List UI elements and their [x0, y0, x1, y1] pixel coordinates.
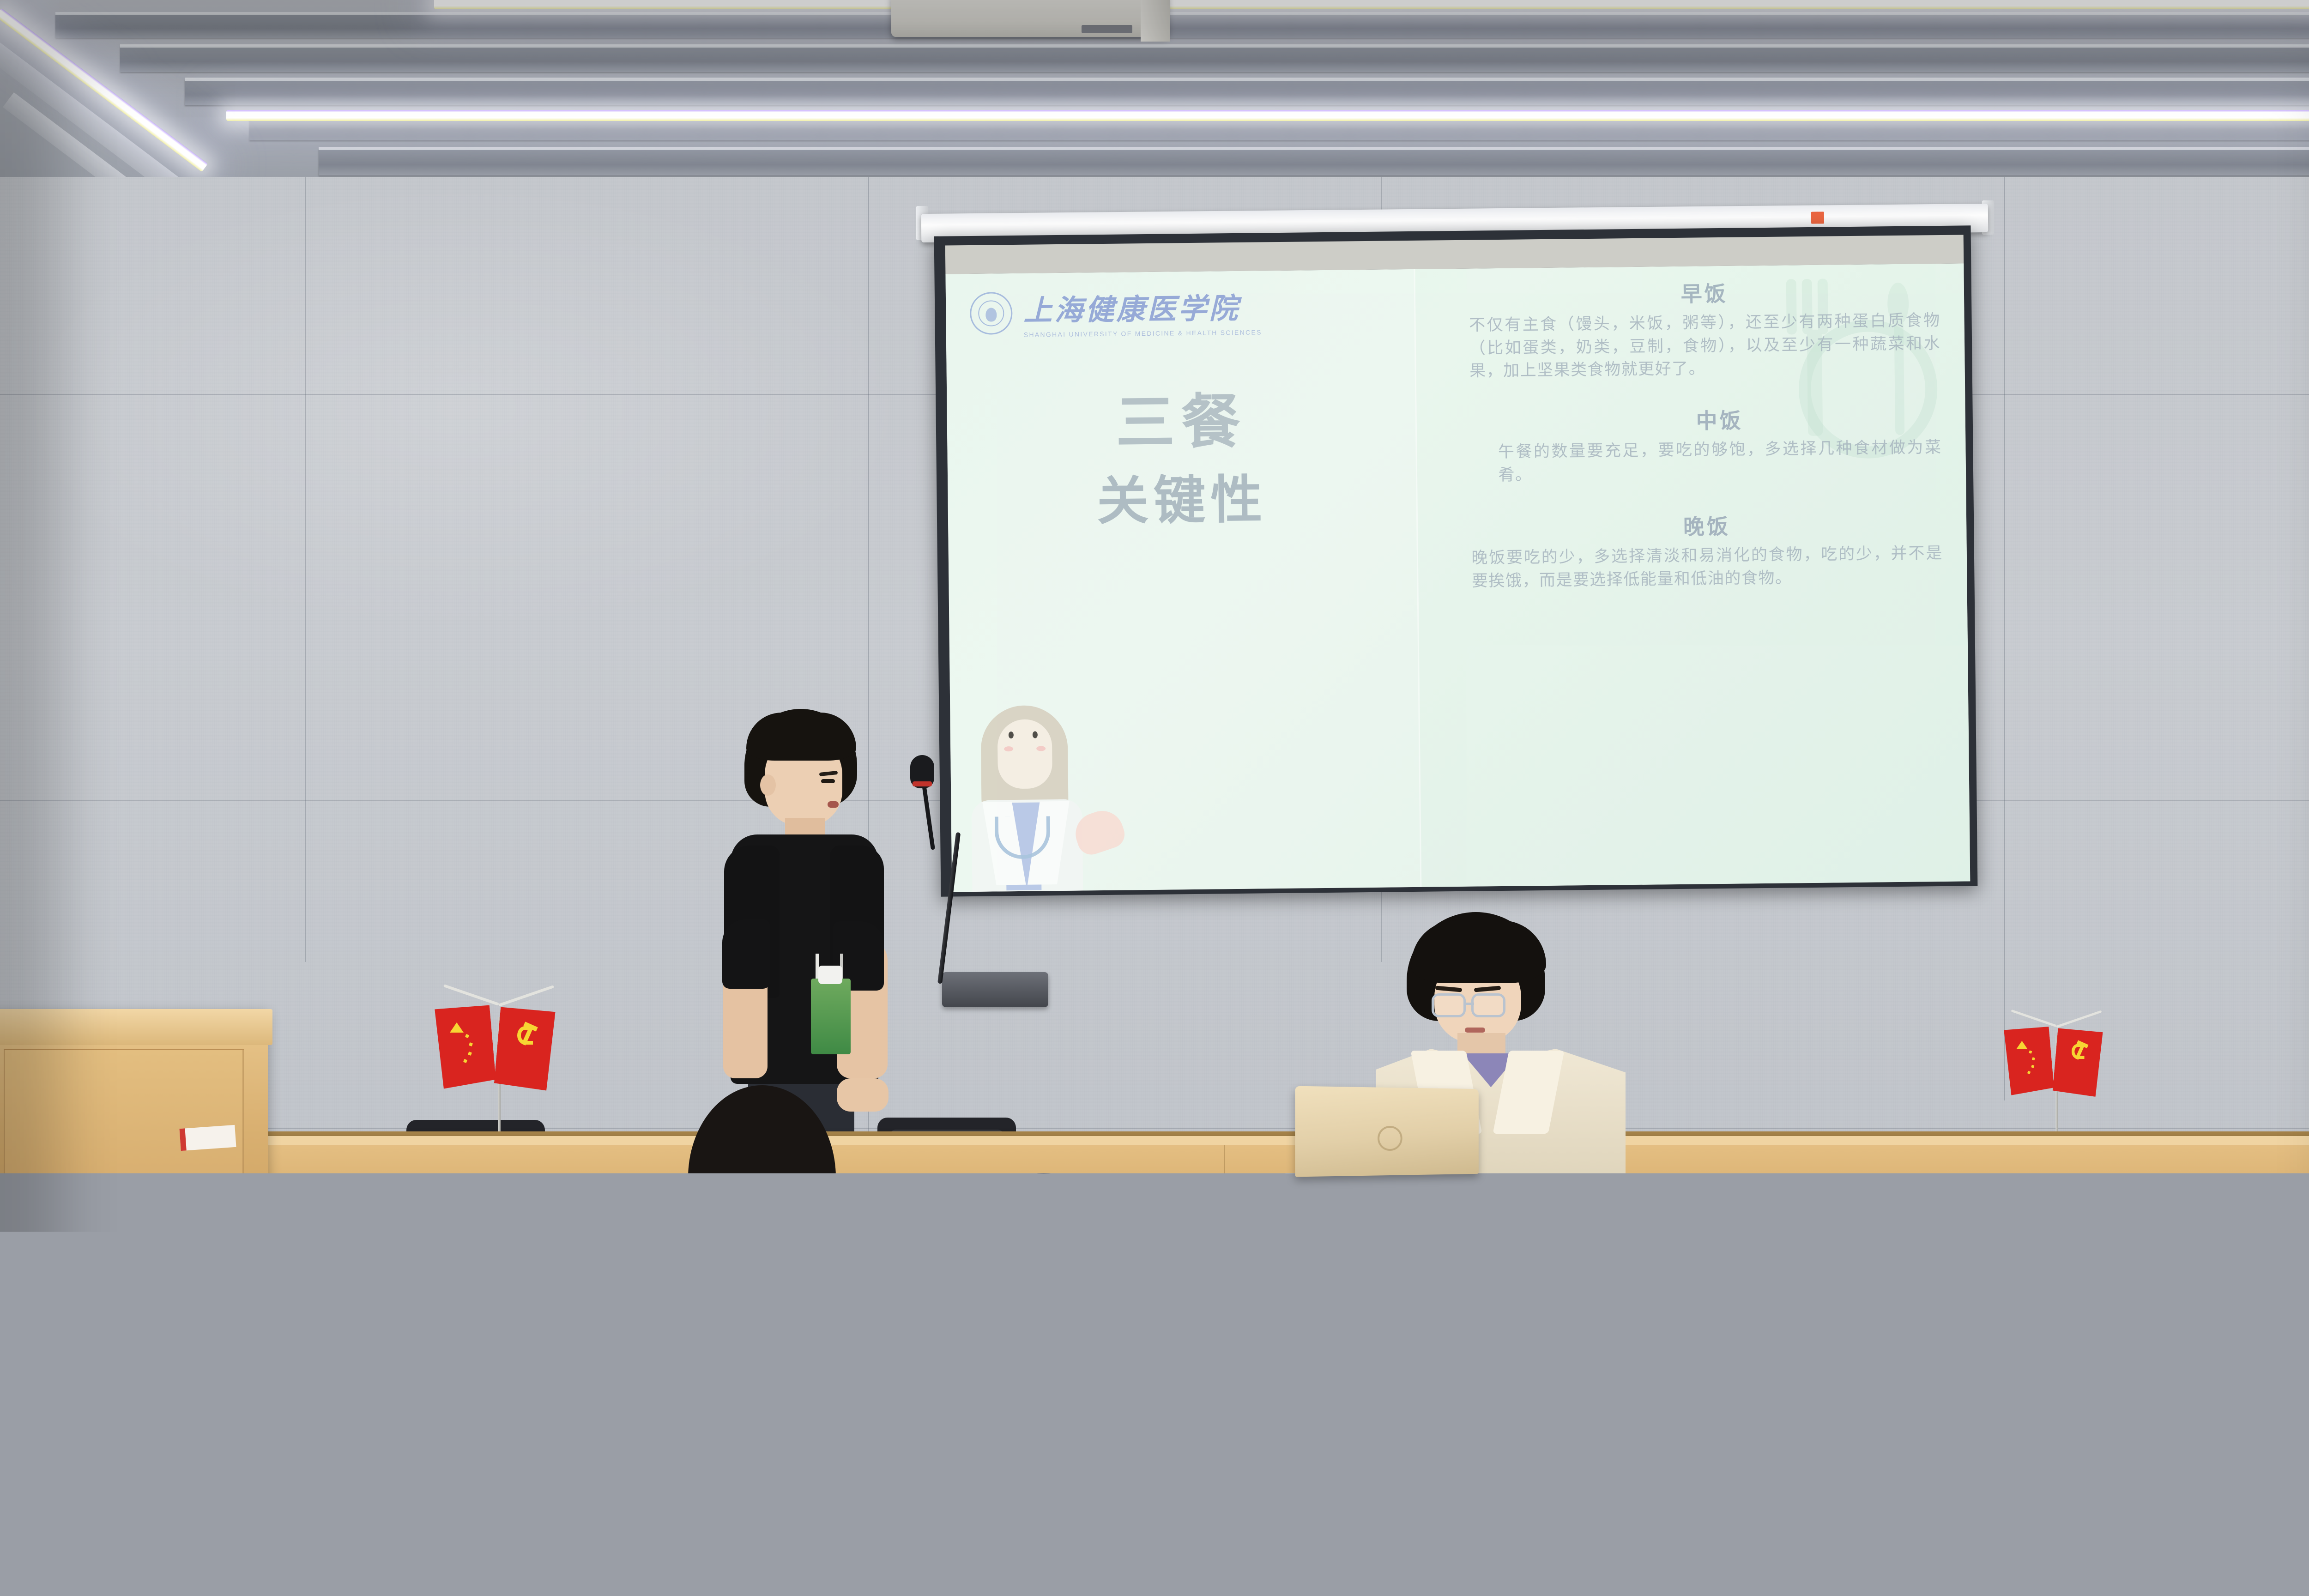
- meal-column: 早饭 不仅有主食（馒头，米饭，粥等），还至少有两种蛋白质食物（比如蛋类，奶类，豆…: [1455, 263, 1970, 886]
- bag-accent: [2041, 1459, 2092, 1570]
- audience-member: [660, 1085, 864, 1372]
- ceiling-light-tube: [434, 0, 2309, 9]
- meal-heading: 早饭: [1469, 275, 1940, 310]
- laptop-brand-logo-icon: [1378, 1126, 1402, 1151]
- podium-document: [179, 1125, 236, 1151]
- china-national-flag: [2003, 1026, 2055, 1096]
- microphone-base[interactable]: [942, 972, 1048, 1007]
- university-logo: 上海健康医学院 SHANGHAI UNIVERSITY OF MEDICINE …: [970, 284, 1262, 339]
- audience-member-patterned-jacket: [845, 1173, 1279, 1596]
- microphone-indicator-ring: [913, 781, 932, 786]
- ceiling-projector: [891, 0, 1168, 37]
- slide-title-line1: 三餐: [947, 387, 1416, 458]
- meal-body: 不仅有主食（馒头，米饭，粥等），还至少有两种蛋白质食物（比如蛋类，奶类，豆制，食…: [1469, 309, 1941, 383]
- screen-surface: 上海健康医学院 SHANGHAI UNIVERSITY OF MEDICINE …: [945, 263, 1970, 892]
- roller-sticker: [1811, 212, 1824, 224]
- flag-stand-left: [429, 984, 568, 1136]
- university-seal-icon: [970, 292, 1013, 335]
- audience-member: [0, 1284, 199, 1596]
- podium: [0, 1009, 268, 1305]
- eyeglasses-icon: [1471, 993, 1505, 1017]
- slide-title-line2: 关键性: [948, 469, 1417, 533]
- presenter-name-badge: [811, 979, 851, 1054]
- meal-lunch: 中饭 午餐的数量要充足，要吃的够饱，多选择几种食材做为菜肴。: [1470, 402, 1942, 487]
- meal-heading: 中饭: [1470, 402, 1941, 437]
- meal-dinner: 晚饭 晚饭要吃的少，多选择清淡和易消化的食物，吃的少，并不是要挨饿，而是要选择低…: [1471, 508, 1943, 592]
- ceiling-light-tube: [226, 110, 2309, 121]
- projector-lens: [1082, 25, 1132, 33]
- meal-breakfast: 早饭 不仅有主食（馒头，米饭，粥等），还至少有两种蛋白质食物（比如蛋类，奶类，豆…: [1469, 275, 1941, 383]
- meal-heading: 晚饭: [1471, 508, 1942, 543]
- meal-body: 午餐的数量要充足，要吃的够饱，多选择几种食材做为菜肴。: [1470, 436, 1942, 487]
- ceiling: [0, 0, 2309, 182]
- hammer-and-sickle-icon: [517, 1024, 542, 1049]
- laptop[interactable]: [1295, 1086, 1479, 1177]
- lecture-hall-photo: 上海健康医学院 SHANGHAI UNIVERSITY OF MEDICINE …: [0, 0, 2309, 1596]
- flag-star-icon: [2016, 1041, 2028, 1049]
- projection-screen: 上海健康医学院 SHANGHAI UNIVERSITY OF MEDICINE …: [934, 225, 1978, 896]
- flag-star-icon: [450, 1022, 464, 1033]
- university-name-cn: 上海健康医学院: [1023, 284, 1262, 328]
- hammer-and-sickle-icon: [2072, 1042, 2092, 1063]
- meal-body: 晚饭要吃的少，多选择清淡和易消化的食物，吃的少，并不是要挨饿，而是要选择低能量和…: [1471, 542, 1943, 592]
- slide-title: 三餐 关键性: [947, 387, 1416, 533]
- doctor-illustration: [964, 692, 1104, 892]
- china-national-flag: [434, 1004, 496, 1089]
- projector-mount: [1141, 0, 1170, 42]
- flag-stand-right: [2000, 1009, 2113, 1134]
- eyeglasses-icon: [1432, 993, 1466, 1017]
- presentation-slide: 上海健康医学院 SHANGHAI UNIVERSITY OF MEDICINE …: [945, 263, 1970, 892]
